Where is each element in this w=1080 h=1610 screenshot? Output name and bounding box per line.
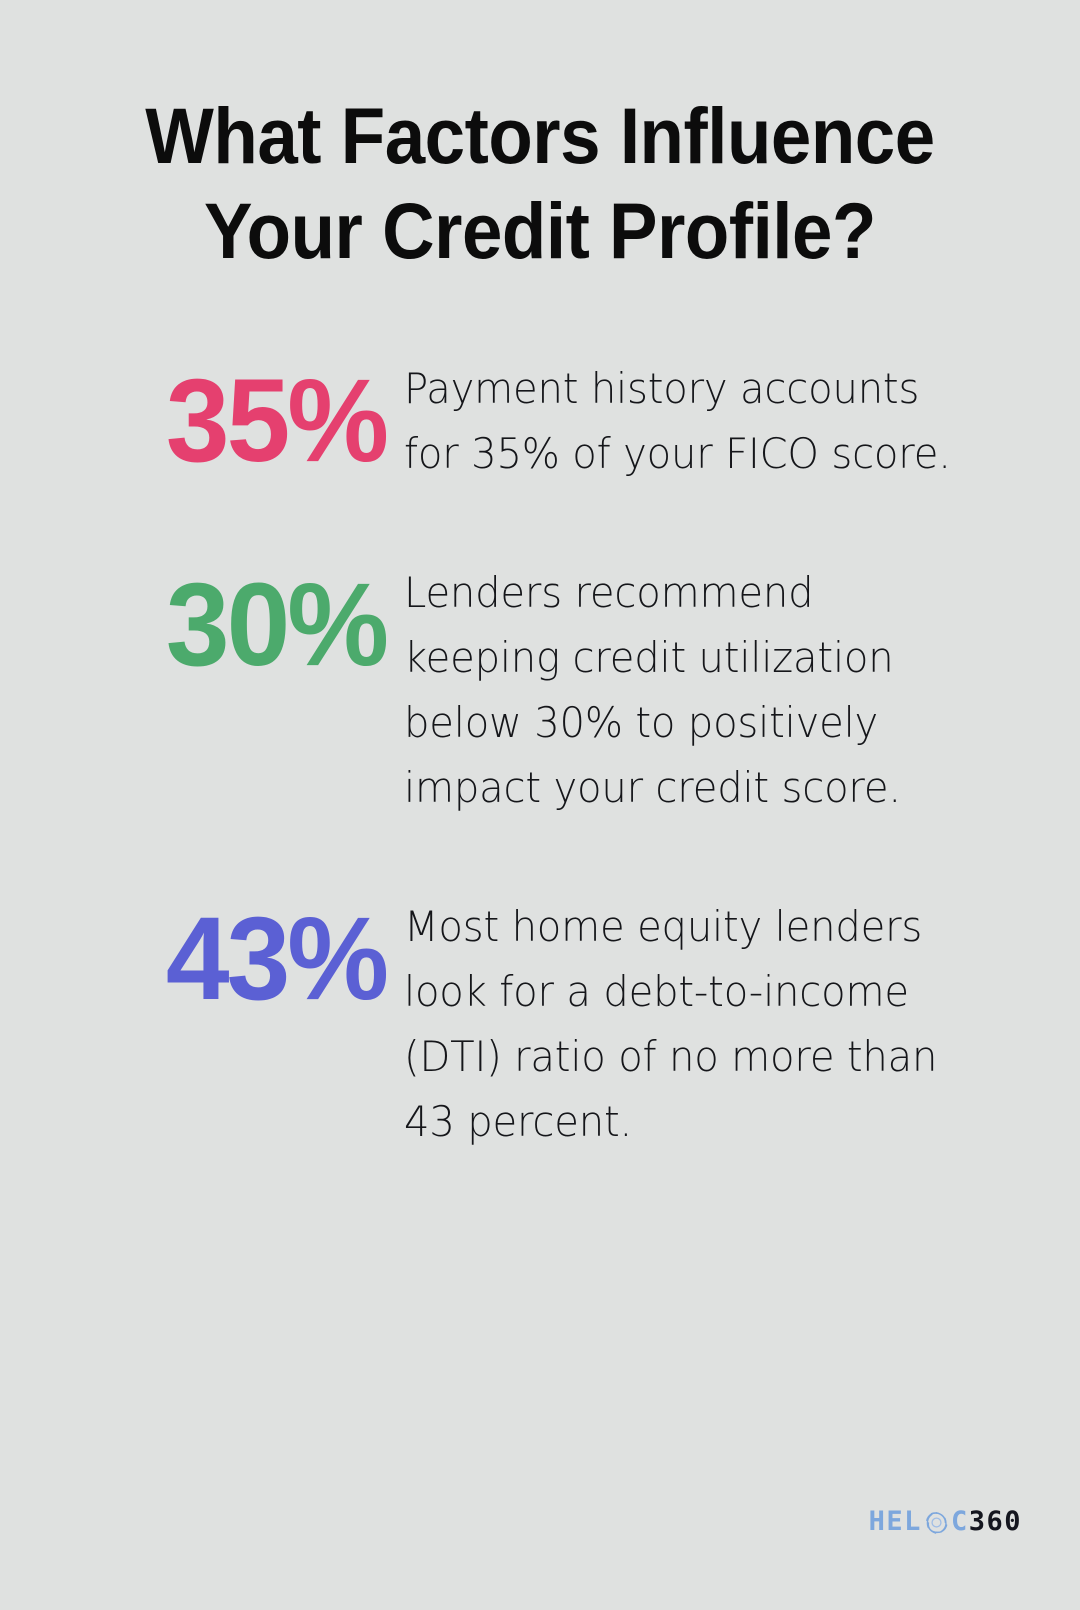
logo-wordmark: HEL C 360 bbox=[869, 1508, 1022, 1535]
stat-description-container: Lenders recommend keeping credit utiliza… bbox=[404, 560, 1080, 820]
stat-row: 43% Most home equity lenders look for a … bbox=[0, 894, 1080, 1154]
heloc360-logo[interactable]: HEL C 360 bbox=[869, 1504, 1022, 1538]
logo-suffix: 360 bbox=[969, 1508, 1022, 1535]
swirl-emblem-icon bbox=[923, 1509, 950, 1536]
stat-figure-container: 35% bbox=[0, 356, 404, 480]
stat-figure-container: 30% bbox=[0, 560, 404, 684]
infographic-poster: What Factors Influence Your Credit Profi… bbox=[0, 0, 1080, 1610]
stat-value-payment-history: 35% bbox=[166, 362, 386, 480]
stat-value-dti-ratio: 43% bbox=[166, 900, 386, 1018]
stat-figure-container: 43% bbox=[0, 894, 404, 1018]
page-title-line-2: Your Credit Profile? bbox=[98, 183, 981, 278]
stat-description-container: Payment history accounts for 35% of your… bbox=[404, 356, 1080, 486]
page-title-line-1: What Factors Influence bbox=[98, 88, 981, 183]
page-title: What Factors Influence Your Credit Profi… bbox=[60, 88, 1020, 278]
stat-value-credit-utilization: 30% bbox=[166, 566, 386, 684]
logo-middle: C bbox=[951, 1508, 969, 1535]
stat-description-dti-ratio: Most home equity lenders look for a debt… bbox=[404, 894, 967, 1154]
stat-description-credit-utilization: Lenders recommend keeping credit utiliza… bbox=[404, 560, 967, 820]
stat-row: 30% Lenders recommend keeping credit uti… bbox=[0, 560, 1080, 820]
stat-row: 35% Payment history accounts for 35% of … bbox=[0, 356, 1080, 486]
stat-list: 35% Payment history accounts for 35% of … bbox=[0, 356, 1080, 1154]
logo-prefix: HEL bbox=[869, 1508, 922, 1535]
stat-description-payment-history: Payment history accounts for 35% of your… bbox=[404, 356, 967, 486]
stat-description-container: Most home equity lenders look for a debt… bbox=[404, 894, 1080, 1154]
